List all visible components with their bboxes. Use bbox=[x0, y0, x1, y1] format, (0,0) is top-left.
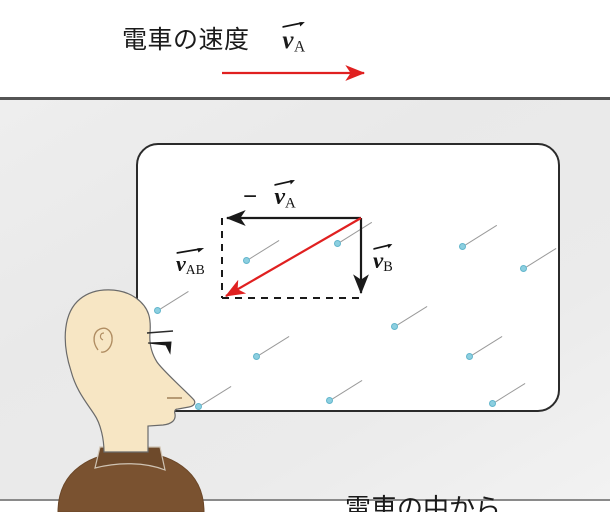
caption-block: 電車の中から 見た様子 bbox=[345, 424, 501, 512]
rain-streak bbox=[330, 380, 363, 401]
symbol-v: v bbox=[373, 248, 383, 273]
rain-streak bbox=[493, 383, 526, 404]
title-vector-symbol: vA bbox=[282, 23, 305, 56]
caption-line-1: 電車の中から bbox=[345, 492, 501, 512]
rain-streak bbox=[199, 386, 232, 407]
below-floor-strip bbox=[0, 501, 610, 512]
raindrop bbox=[253, 353, 260, 360]
raindrop bbox=[195, 403, 202, 410]
rain-streak bbox=[470, 336, 503, 357]
raindrop bbox=[391, 323, 398, 330]
label-minus-v-a: − vA bbox=[243, 181, 296, 212]
rain-streak bbox=[524, 248, 557, 269]
title-text: 電車の速度 bbox=[122, 25, 250, 54]
rain-streak bbox=[338, 222, 373, 244]
symbol-v: v bbox=[176, 251, 186, 276]
raindrop bbox=[334, 240, 341, 247]
symbol-v: v bbox=[274, 184, 285, 210]
rain-streak bbox=[257, 336, 290, 357]
subscript-ab: AB bbox=[186, 262, 205, 277]
title-symbol-v: v bbox=[282, 27, 294, 54]
minus-sign: − bbox=[243, 183, 257, 210]
vab-symbol: vAB bbox=[176, 249, 205, 278]
raindrop bbox=[520, 265, 527, 272]
rain-streak bbox=[463, 225, 498, 247]
raindrop bbox=[154, 307, 161, 314]
raindrop bbox=[459, 243, 466, 250]
raindrop bbox=[326, 397, 333, 404]
minus-va-symbol: vA bbox=[274, 181, 295, 212]
page-title: 電車の速度 vA bbox=[122, 20, 306, 56]
subscript-b: B bbox=[383, 259, 393, 275]
raindrop bbox=[489, 400, 496, 407]
label-v-b: vB bbox=[373, 245, 393, 276]
rain-streak bbox=[247, 240, 280, 261]
label-v-ab: vAB bbox=[176, 249, 205, 278]
title-subscript: A bbox=[294, 38, 306, 55]
rain-streak bbox=[158, 291, 189, 311]
vb-symbol: vB bbox=[373, 245, 393, 276]
raindrop bbox=[243, 257, 250, 264]
subscript-a: A bbox=[285, 195, 296, 211]
rain-streak bbox=[395, 306, 428, 327]
slide-canvas: 電車の速度 vA − vA v bbox=[0, 0, 610, 512]
raindrop bbox=[466, 353, 473, 360]
